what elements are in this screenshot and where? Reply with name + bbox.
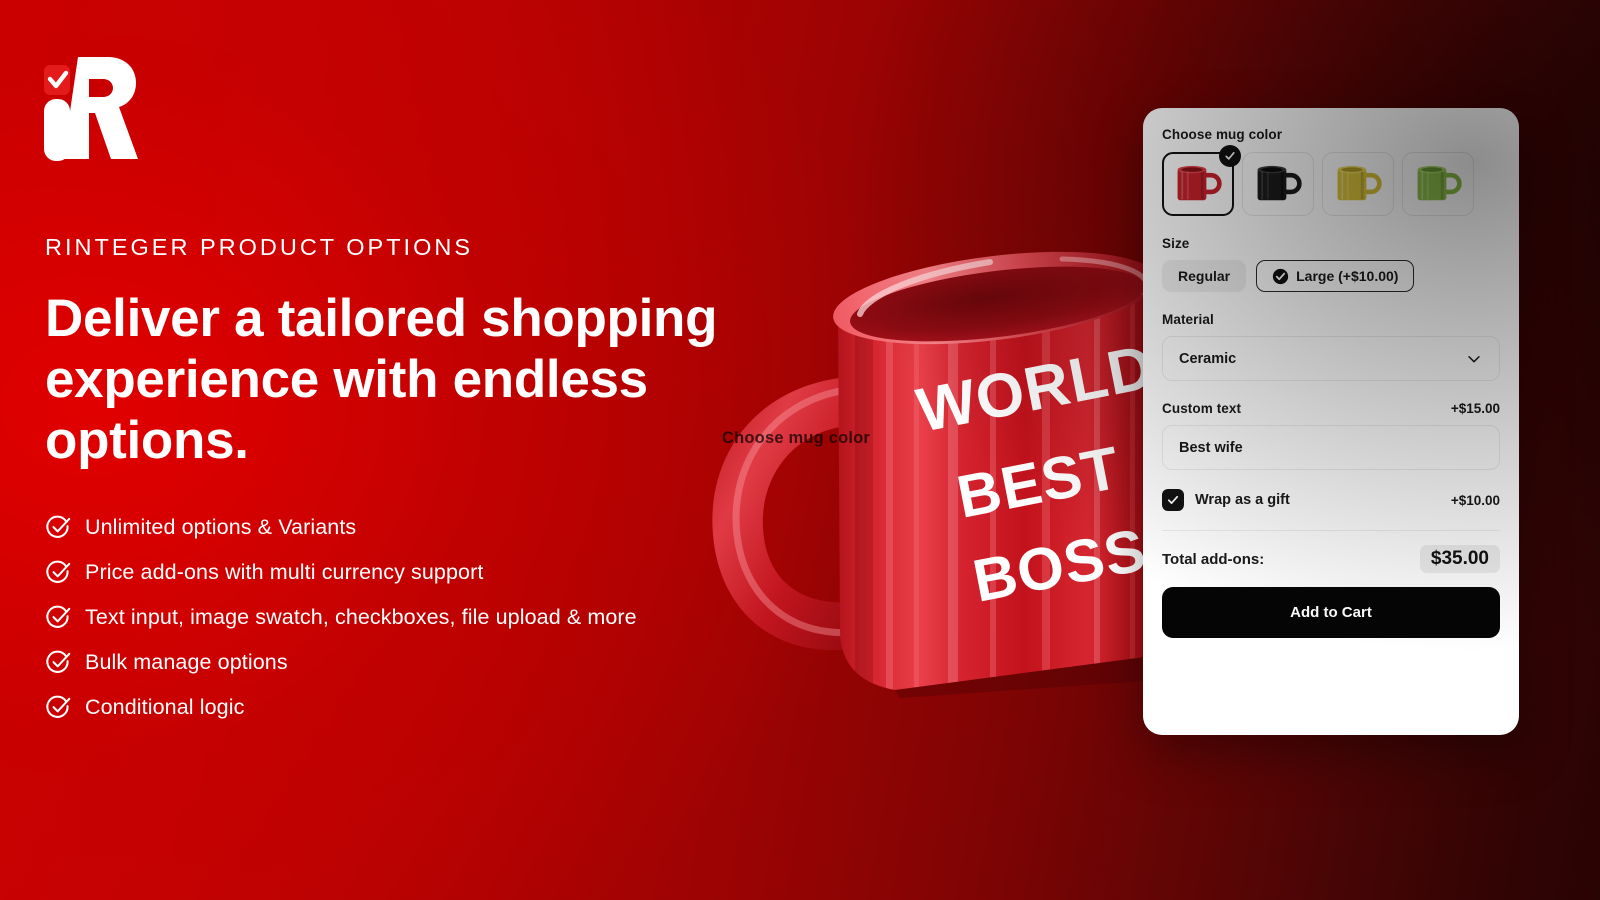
- list-item: Bulk manage options: [45, 640, 637, 685]
- gift-wrap-price: +$10.00: [1451, 493, 1500, 508]
- eyebrow-text: RINTEGER PRODUCT OPTIONS: [45, 234, 473, 261]
- color-swatch-black[interactable]: [1242, 152, 1314, 216]
- size-group-label: Size: [1162, 236, 1500, 251]
- product-options-card: Choose mug color: [1143, 108, 1519, 735]
- list-item-label: Text input, image swatch, checkboxes, fi…: [85, 605, 637, 630]
- total-addons-value: $35.00: [1420, 545, 1500, 573]
- custom-text-input-value: Best wife: [1179, 440, 1243, 456]
- rinteger-logo-icon: [44, 55, 140, 163]
- size-option-regular-label: Regular: [1178, 268, 1230, 284]
- size-group: Size Regular Large (+$10.00): [1162, 236, 1500, 292]
- material-select[interactable]: Ceramic: [1162, 336, 1500, 381]
- material-select-value: Ceramic: [1179, 351, 1236, 367]
- size-option-large[interactable]: Large (+$10.00): [1256, 260, 1414, 292]
- hero-banner: RINTEGER PRODUCT OPTIONS Deliver a tailo…: [0, 0, 1600, 900]
- chevron-down-icon: [1465, 350, 1483, 368]
- color-swatch-green[interactable]: [1402, 152, 1474, 216]
- check-circle-icon: [45, 514, 72, 541]
- list-item: Unlimited options & Variants: [45, 505, 637, 550]
- total-addons-label: Total add-ons:: [1162, 551, 1264, 568]
- product-mug-image: WORLD BEST BOSS: [690, 250, 1160, 700]
- size-option-large-label: Large (+$10.00): [1296, 268, 1398, 284]
- list-item-label: Bulk manage options: [85, 650, 288, 675]
- check-circle-icon: [45, 604, 72, 631]
- list-item: Conditional logic: [45, 685, 637, 730]
- custom-text-input[interactable]: Best wife: [1162, 425, 1500, 470]
- list-item: Price add-ons with multi currency suppor…: [45, 550, 637, 595]
- list-item-label: Conditional logic: [85, 695, 244, 720]
- gift-wrap-label: Wrap as a gift: [1195, 492, 1290, 508]
- checkmark-icon: [1166, 493, 1180, 507]
- mug-overlay-label: Choose mug color: [722, 429, 870, 448]
- custom-text-label: Custom text: [1162, 401, 1241, 416]
- material-group: Material Ceramic: [1162, 312, 1500, 381]
- list-item-label: Price add-ons with multi currency suppor…: [85, 560, 483, 585]
- size-option-regular[interactable]: Regular: [1162, 260, 1246, 292]
- check-badge-icon: [1219, 145, 1241, 167]
- gift-wrap-checkbox[interactable]: [1162, 489, 1184, 511]
- color-swatch-yellow[interactable]: [1322, 152, 1394, 216]
- color-swatch-group: [1162, 152, 1500, 216]
- total-addons-row: Total add-ons: $35.00: [1162, 545, 1500, 573]
- gift-wrap-row: Wrap as a gift +$10.00: [1162, 489, 1500, 511]
- check-circle-filled-icon: [1272, 268, 1289, 285]
- add-to-cart-button[interactable]: Add to Cart: [1162, 587, 1500, 638]
- custom-text-group: Custom text +$15.00 Best wife: [1162, 401, 1500, 470]
- card-divider: [1162, 530, 1500, 531]
- feature-list: Unlimited options & Variants Price add-o…: [45, 505, 637, 730]
- check-circle-icon: [45, 559, 72, 586]
- material-group-label: Material: [1162, 312, 1500, 327]
- color-swatch-red[interactable]: [1162, 152, 1234, 216]
- custom-text-price: +$15.00: [1451, 401, 1500, 416]
- check-circle-icon: [45, 649, 72, 676]
- list-item-label: Unlimited options & Variants: [85, 515, 356, 540]
- list-item: Text input, image swatch, checkboxes, fi…: [45, 595, 637, 640]
- color-group-label: Choose mug color: [1162, 127, 1500, 142]
- check-circle-icon: [45, 694, 72, 721]
